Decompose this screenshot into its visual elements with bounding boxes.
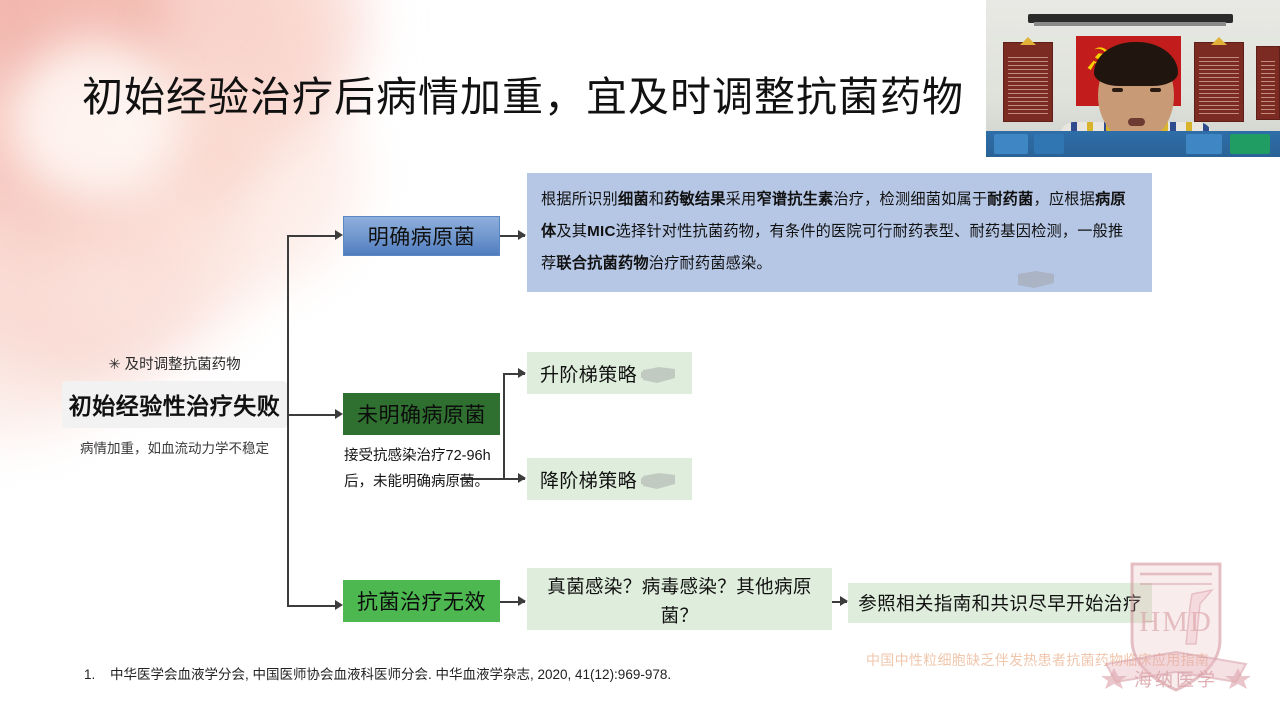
logo-initials: HMD <box>1096 606 1256 639</box>
box-escalation-strategy[interactable]: 升阶梯策略 <box>527 352 692 394</box>
background-blossom-4 <box>0 90 230 380</box>
webcam-wall-plaque-right <box>1194 42 1244 122</box>
presenter-eye-left <box>1112 88 1123 92</box>
unidentified-caption-line1: 接受抗感染治疗72-96h <box>344 443 519 469</box>
background-blossom-2 <box>0 0 240 260</box>
box-other-infection-question[interactable]: 真菌感染？病毒感染？其他病原菌？ <box>527 568 832 630</box>
node-antibacterial-ineffective-label: 抗菌治疗无效 <box>343 586 500 616</box>
connector-arrow-escalation <box>518 368 526 378</box>
connector-trunk <box>287 235 289 606</box>
node-unidentified-pathogen-label: 未明确病原菌 <box>343 399 500 429</box>
other-infection-question-label: 真菌感染？病毒感染？其他病原菌？ <box>547 576 812 626</box>
presenter-eye-right <box>1150 88 1161 92</box>
presenter-webcam-feed[interactable]: ☭ <box>986 0 1280 157</box>
identified-pathogen-detail-panel: 根据所识别细菌和药敏结果采用窄谱抗生素治疗，检测细菌如属于耐药菌，应根据病原体及… <box>527 173 1152 292</box>
connector-arrow-top <box>335 230 343 240</box>
unidentified-caption-line2: 后，未能明确病原菌。 <box>344 469 519 495</box>
webcam-ceiling-strip-inner <box>1034 22 1226 26</box>
footer-citation: 1.中华医学会血液学分会, 中国医师协会血液科医师分会. 中华血液学杂志, 20… <box>84 663 671 683</box>
webcam-desk-item-4 <box>1230 134 1270 154</box>
failure-cluster: ✳ 及时调整抗菌药物 初始经验性治疗失败 病情加重，如血流动力学不稳定 <box>62 355 287 457</box>
connector-arrow-blue-panel <box>518 230 526 240</box>
citation-text: 中华医学会血液学分会, 中国医师协会血液科医师分会. 中华血液学杂志, 2020… <box>110 667 671 682</box>
background-blossom-1 <box>0 0 290 250</box>
presenter-mouth <box>1128 118 1145 126</box>
background-blossom-9 <box>60 180 260 350</box>
connector-arrow-bottom <box>335 600 343 610</box>
slide-canvas: 初始经验治疗后病情加重，宜及时调整抗菌药物 ✳ 及时调整抗菌药物 初始经验性治疗… <box>0 0 1280 720</box>
connector-branch-mid <box>287 414 337 416</box>
initial-therapy-failure-label: 初始经验性治疗失败 <box>62 381 287 428</box>
node-identified-pathogen[interactable]: 明确病原菌 <box>343 216 500 256</box>
unidentified-pathogen-caption: 接受抗感染治疗72-96h 后，未能明确病原菌。 <box>344 443 519 495</box>
de-escalation-strategy-label: 降阶梯策略 <box>540 466 637 493</box>
logo-banner-text: 海纳医学 <box>1096 666 1256 692</box>
node-unidentified-pathogen[interactable]: 未明确病原菌 <box>343 393 500 435</box>
adjust-antibiotic-note: ✳ 及时调整抗菌药物 <box>62 355 287 375</box>
failure-criteria-label: 病情加重，如血流动力学不稳定 <box>62 437 287 457</box>
pointing-hand-icon <box>1012 262 1056 294</box>
connector-arrow-guideline <box>840 596 848 606</box>
pointing-hand-icon <box>637 356 677 390</box>
connector-arrow-question <box>518 596 526 606</box>
connector-branch-top <box>287 235 337 237</box>
webcam-wall-plaque-left <box>1003 42 1053 122</box>
slide-title: 初始经验治疗后病情加重，宜及时调整抗菌药物 <box>82 72 964 122</box>
identified-pathogen-detail-text: 根据所识别细菌和药敏结果采用窄谱抗生素治疗，检测细菌如属于耐药菌，应根据病原体及… <box>541 191 1126 272</box>
pointing-hand-icon <box>637 462 677 496</box>
box-de-escalation-strategy[interactable]: 降阶梯策略 <box>527 458 692 500</box>
citation-number: 1. <box>84 667 110 682</box>
webcam-desk-item-1 <box>994 134 1028 154</box>
escalation-strategy-label: 升阶梯策略 <box>540 360 637 387</box>
connector-branch-bottom <box>287 605 337 607</box>
node-identified-pathogen-label: 明确病原菌 <box>344 221 499 251</box>
node-antibacterial-ineffective[interactable]: 抗菌治疗无效 <box>343 580 500 622</box>
webcam-desk-item-3 <box>1186 134 1222 154</box>
hmd-logo: HMD 海纳医学 <box>1096 548 1256 716</box>
connector-arrow-de-escalation <box>518 473 526 483</box>
connector-arrow-mid <box>335 409 343 419</box>
webcam-desk-item-2 <box>1034 134 1064 154</box>
webcam-wall-plaque-far-right <box>1256 46 1280 120</box>
